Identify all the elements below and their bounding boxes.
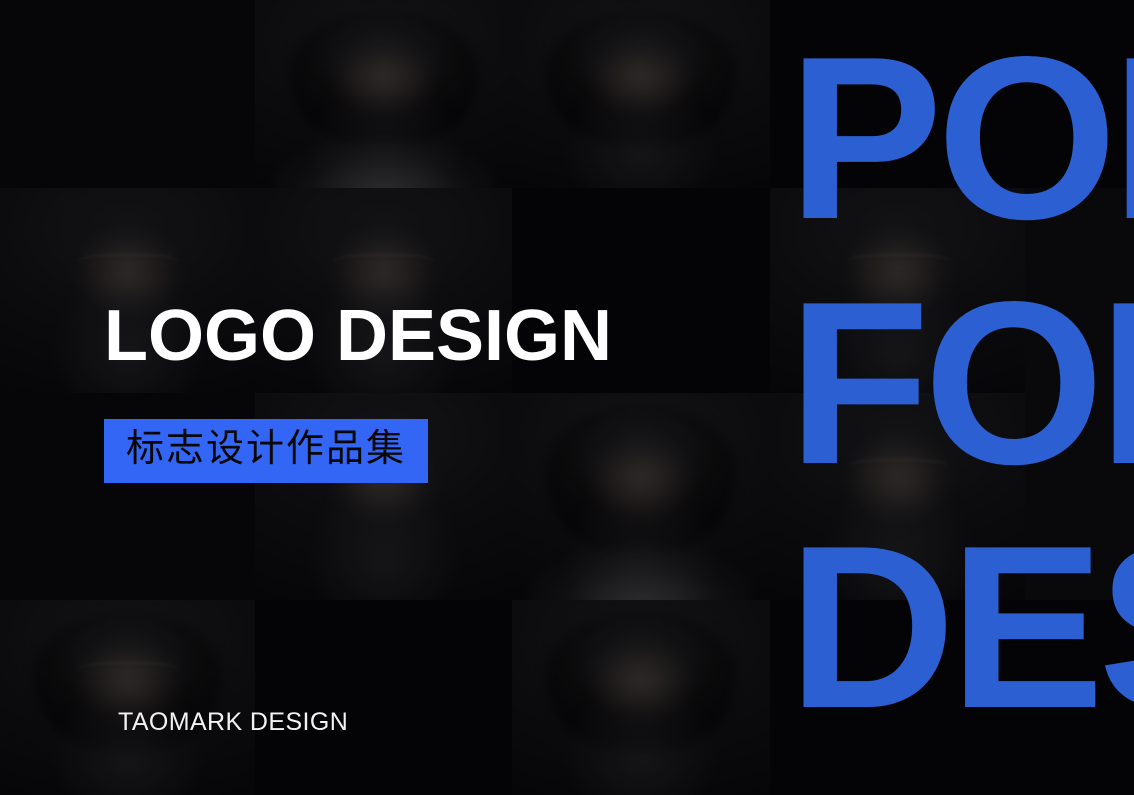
photo-placeholder (770, 600, 1025, 795)
page-title: LOGO DESIGN (104, 300, 612, 372)
portfolio-cover-slide: PORT FOLIO DESIGN LOGO DESIGN 标志设计作品集 TA… (0, 0, 1134, 795)
photo-cell (255, 600, 512, 795)
hair-shape (546, 11, 737, 146)
photo-placeholder (1025, 188, 1134, 393)
hair-shape (288, 11, 478, 146)
photo-cell (0, 0, 255, 188)
shirt-shape (530, 538, 752, 600)
subtitle-badge: 标志设计作品集 (104, 419, 428, 483)
photo-cell (1025, 393, 1134, 600)
photo-cell (1025, 600, 1134, 795)
photo-cell (770, 393, 1025, 600)
portrait-photo (512, 600, 770, 795)
photo-cell (770, 600, 1025, 795)
glasses-shape (332, 254, 435, 272)
glasses-shape (77, 254, 179, 272)
glasses-shape (77, 662, 179, 680)
portrait-photo (512, 0, 770, 188)
photo-cell (512, 600, 770, 795)
photo-placeholder (255, 600, 512, 795)
photo-placeholder (1025, 0, 1134, 188)
photo-placeholder (1025, 600, 1134, 795)
hair-shape (546, 612, 737, 752)
signature-label: TAOMARK DESIGN (118, 708, 348, 737)
portrait-photo (255, 0, 512, 188)
photo-cell (770, 0, 1025, 188)
photo-cell (770, 188, 1025, 393)
portrait-photo (0, 600, 255, 795)
headline-block: LOGO DESIGN 标志设计作品集 (104, 300, 612, 483)
glasses-shape (847, 459, 949, 477)
photo-cell (0, 600, 255, 795)
glasses-shape (847, 254, 949, 272)
photo-placeholder (770, 0, 1025, 188)
photo-placeholder (0, 0, 255, 188)
photo-cell (255, 0, 512, 188)
photo-cell (1025, 0, 1134, 188)
photo-placeholder (1025, 393, 1134, 600)
portrait-photo (770, 188, 1025, 393)
photo-cell (512, 0, 770, 188)
portrait-photo (770, 393, 1025, 600)
photo-cell (1025, 188, 1134, 393)
shirt-shape (273, 132, 494, 188)
